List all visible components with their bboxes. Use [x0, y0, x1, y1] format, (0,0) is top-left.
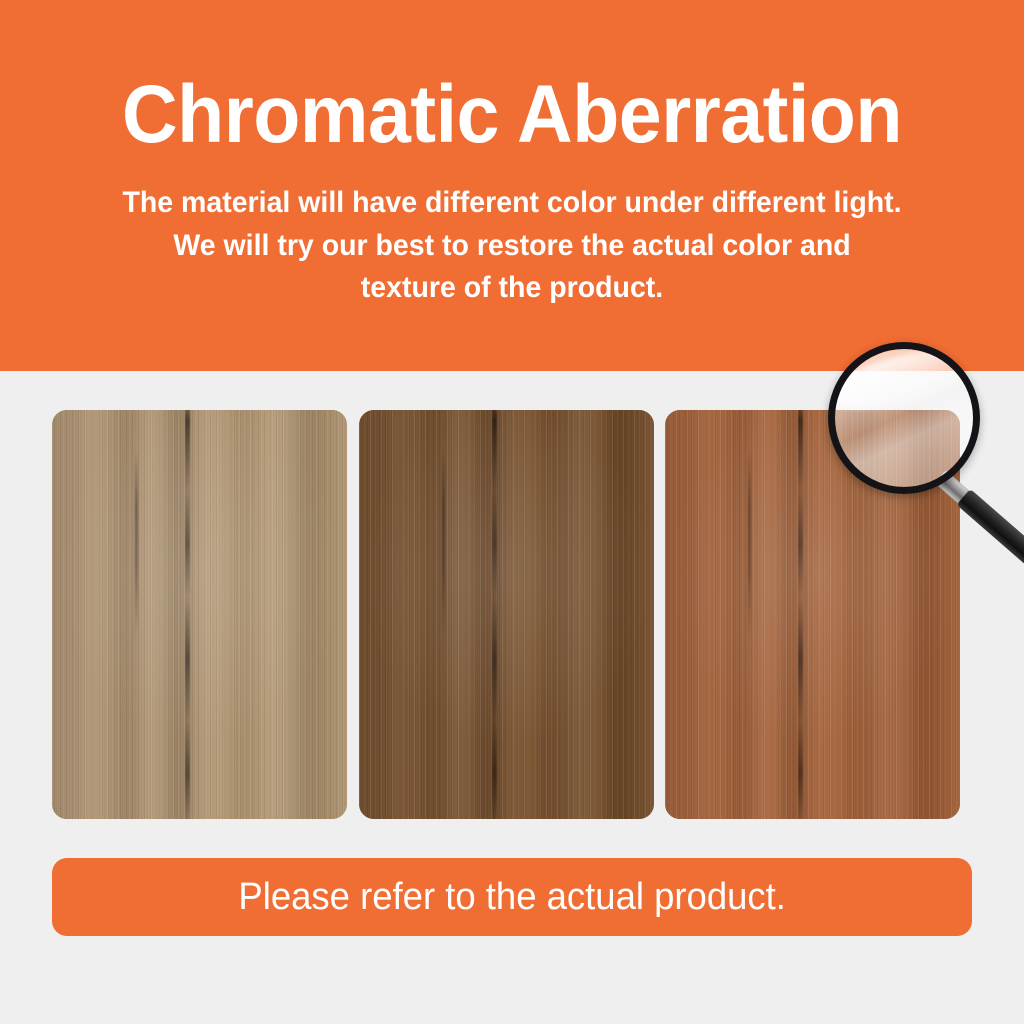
subtitle-line-2: We will try our best to restore the actu…	[73, 225, 951, 268]
footer-banner-text: Please refer to the actual product.	[238, 878, 786, 916]
header-subtitle: The material will have different color u…	[73, 182, 951, 310]
page-title: Chromatic Aberration	[31, 74, 994, 156]
swatch-sheen	[665, 410, 960, 819]
magnifier-grip	[957, 489, 1024, 573]
wood-swatch-dark-walnut	[359, 410, 654, 819]
chromatic-aberration-infographic: Chromatic Aberration The material will h…	[0, 0, 1024, 1024]
swatch-sheen	[359, 410, 654, 819]
footer-banner: Please refer to the actual product.	[52, 858, 972, 936]
header-banner: Chromatic Aberration The material will h…	[0, 0, 1024, 371]
swatch-sheen	[52, 410, 347, 819]
subtitle-line-3: texture of the product.	[73, 267, 951, 310]
wood-swatch-light-oak	[52, 410, 347, 819]
wood-swatch-cinnamon-oak	[665, 410, 960, 819]
subtitle-line-1: The material will have different color u…	[73, 182, 951, 225]
